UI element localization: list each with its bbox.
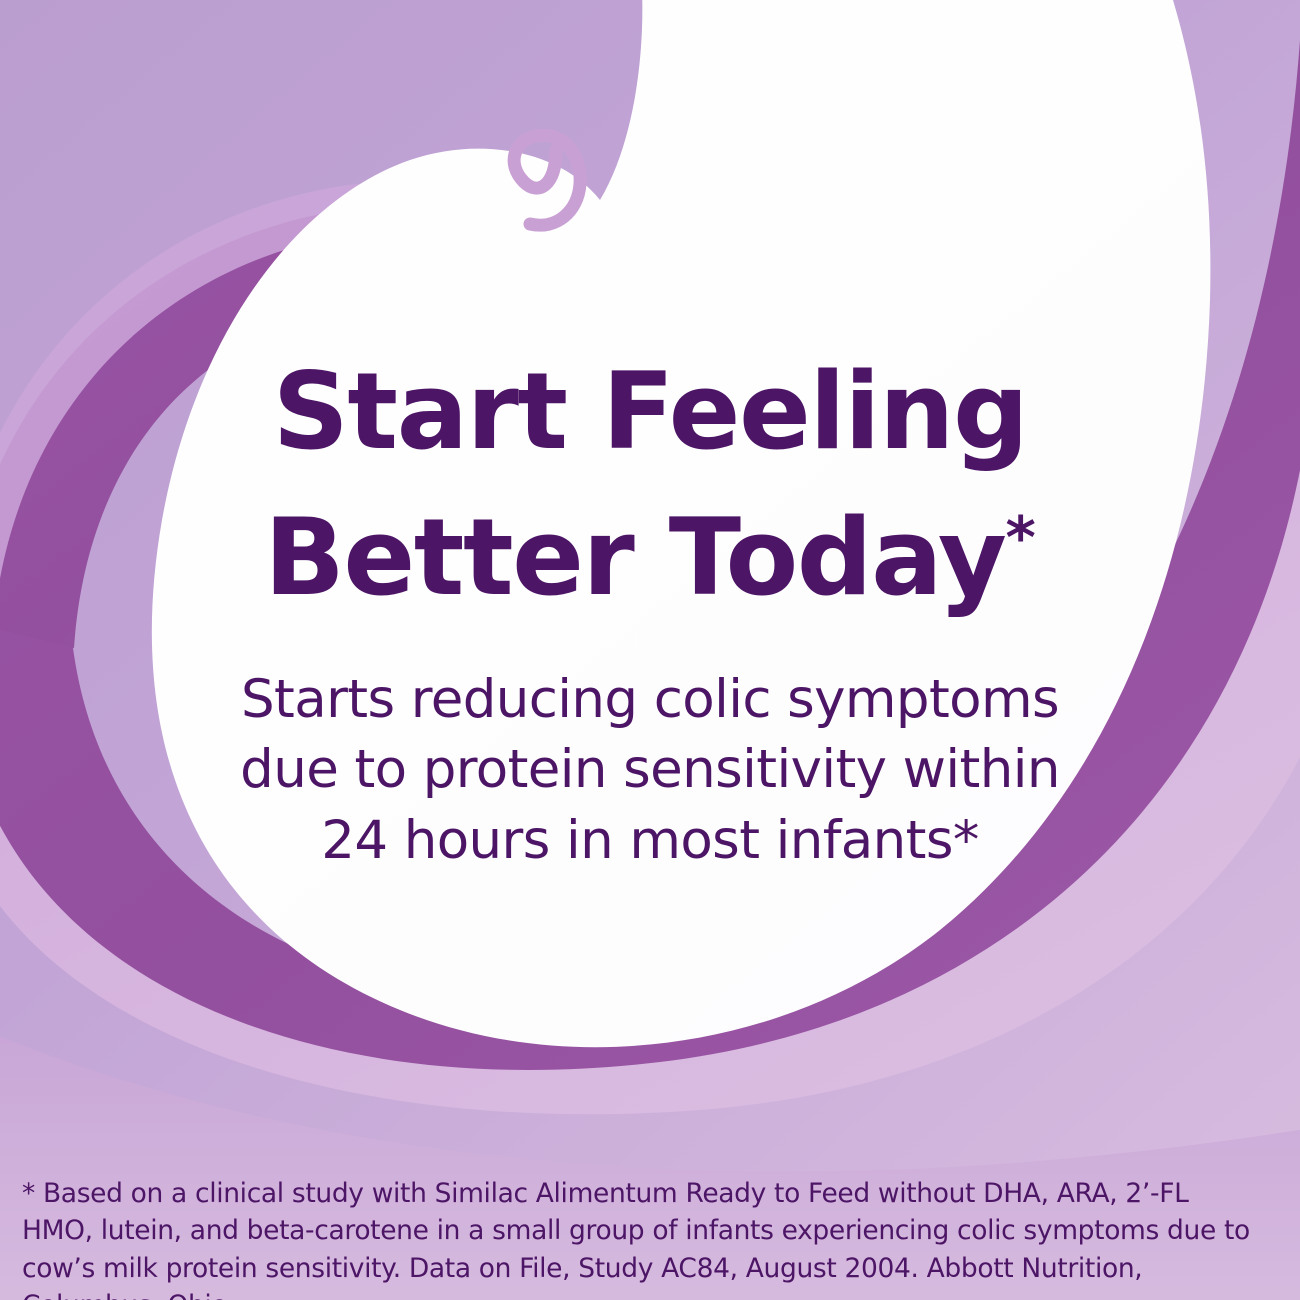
page-title: Start Feeling Better Today*	[0, 339, 1300, 632]
subtitle-line-1: Starts reducing colic symptoms	[241, 669, 1059, 730]
promo-poster: Start Feeling Better Today* Starts reduc…	[0, 0, 1300, 1300]
headline-footnote-marker: *	[1006, 504, 1036, 572]
subtitle: Starts reducing colic symptoms due to pr…	[0, 665, 1300, 876]
footnote-disclaimer: * Based on a clinical study with Similac…	[22, 1175, 1258, 1300]
headline-line-2: Better Today	[264, 496, 1005, 619]
subtitle-line-3: 24 hours in most infants*	[321, 810, 979, 871]
headline-line-1: Start Feeling	[273, 350, 1028, 473]
content-layer: Start Feeling Better Today* Starts reduc…	[0, 0, 1300, 1300]
subtitle-line-2: due to protein sensitivity within	[240, 739, 1060, 800]
